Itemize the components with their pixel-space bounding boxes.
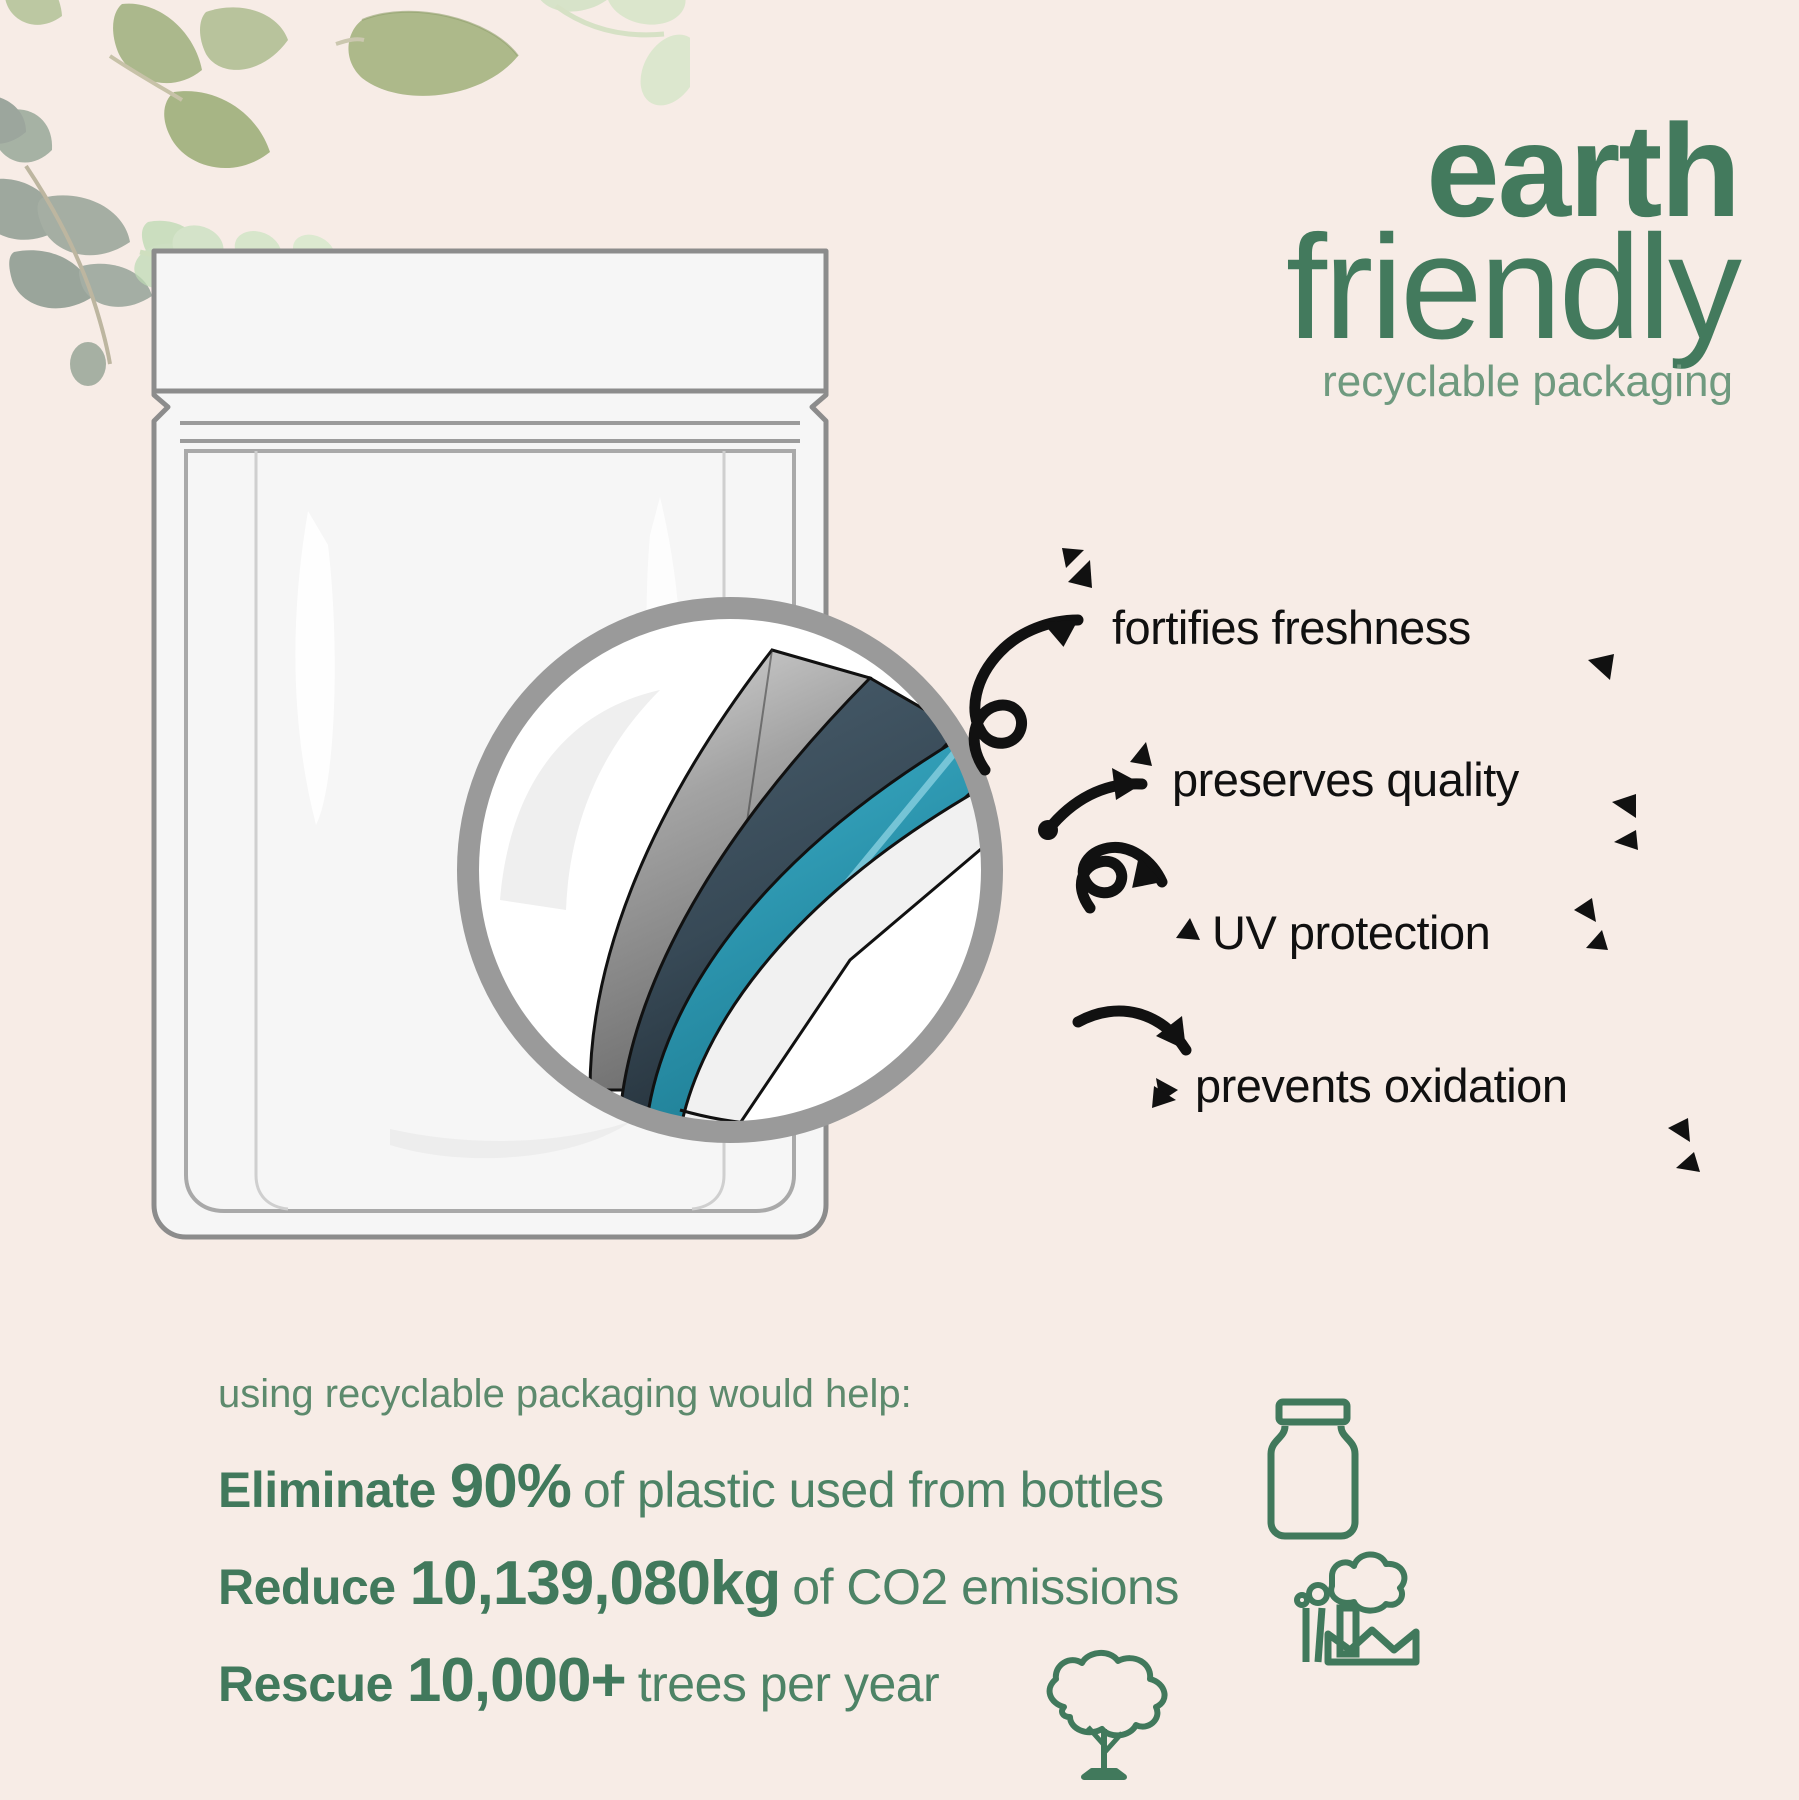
feature-label-fortifies-freshness: fortifies freshness: [1112, 600, 1471, 655]
headline-subtitle: recyclable packaging: [1286, 362, 1739, 403]
stat-tail-rescue: trees per year: [638, 1655, 939, 1713]
stat-value-eliminate: 90%: [450, 1451, 571, 1522]
headline-line-2: friendly: [1286, 219, 1739, 357]
statistics-lead-in: using recyclable packaging would help:: [218, 1372, 1618, 1417]
stat-value-reduce: 10,139,080kg: [410, 1548, 781, 1619]
feature-label-preserves-quality: preserves quality: [1172, 752, 1519, 807]
stat-verb-reduce: Reduce: [218, 1558, 396, 1616]
feature-label-uv-protection: UV protection: [1212, 905, 1490, 960]
headline-block: earth friendly recyclable packaging: [1286, 110, 1739, 403]
tree-icon: [1030, 1645, 1180, 1785]
stat-verb-eliminate: Eliminate: [218, 1461, 436, 1519]
poster-canvas: earth friendly recyclable packaging fort…: [0, 0, 1799, 1800]
stat-verb-rescue: Rescue: [218, 1655, 393, 1713]
bottle-icon: [1253, 1396, 1373, 1546]
stat-tail-reduce: of CO2 emissions: [792, 1558, 1179, 1616]
stat-row-eliminate: Eliminate 90% of plastic used from bottl…: [218, 1451, 1618, 1522]
stat-tail-eliminate: of plastic used from bottles: [583, 1461, 1164, 1519]
factory-icon: [1288, 1538, 1428, 1668]
stat-value-rescue: 10,000+: [407, 1645, 626, 1716]
magnifier-cross-section: [440, 570, 1020, 1170]
feature-label-prevents-oxidation: prevents oxidation: [1195, 1058, 1567, 1113]
arrow-fortifies-freshness: [974, 548, 1614, 770]
